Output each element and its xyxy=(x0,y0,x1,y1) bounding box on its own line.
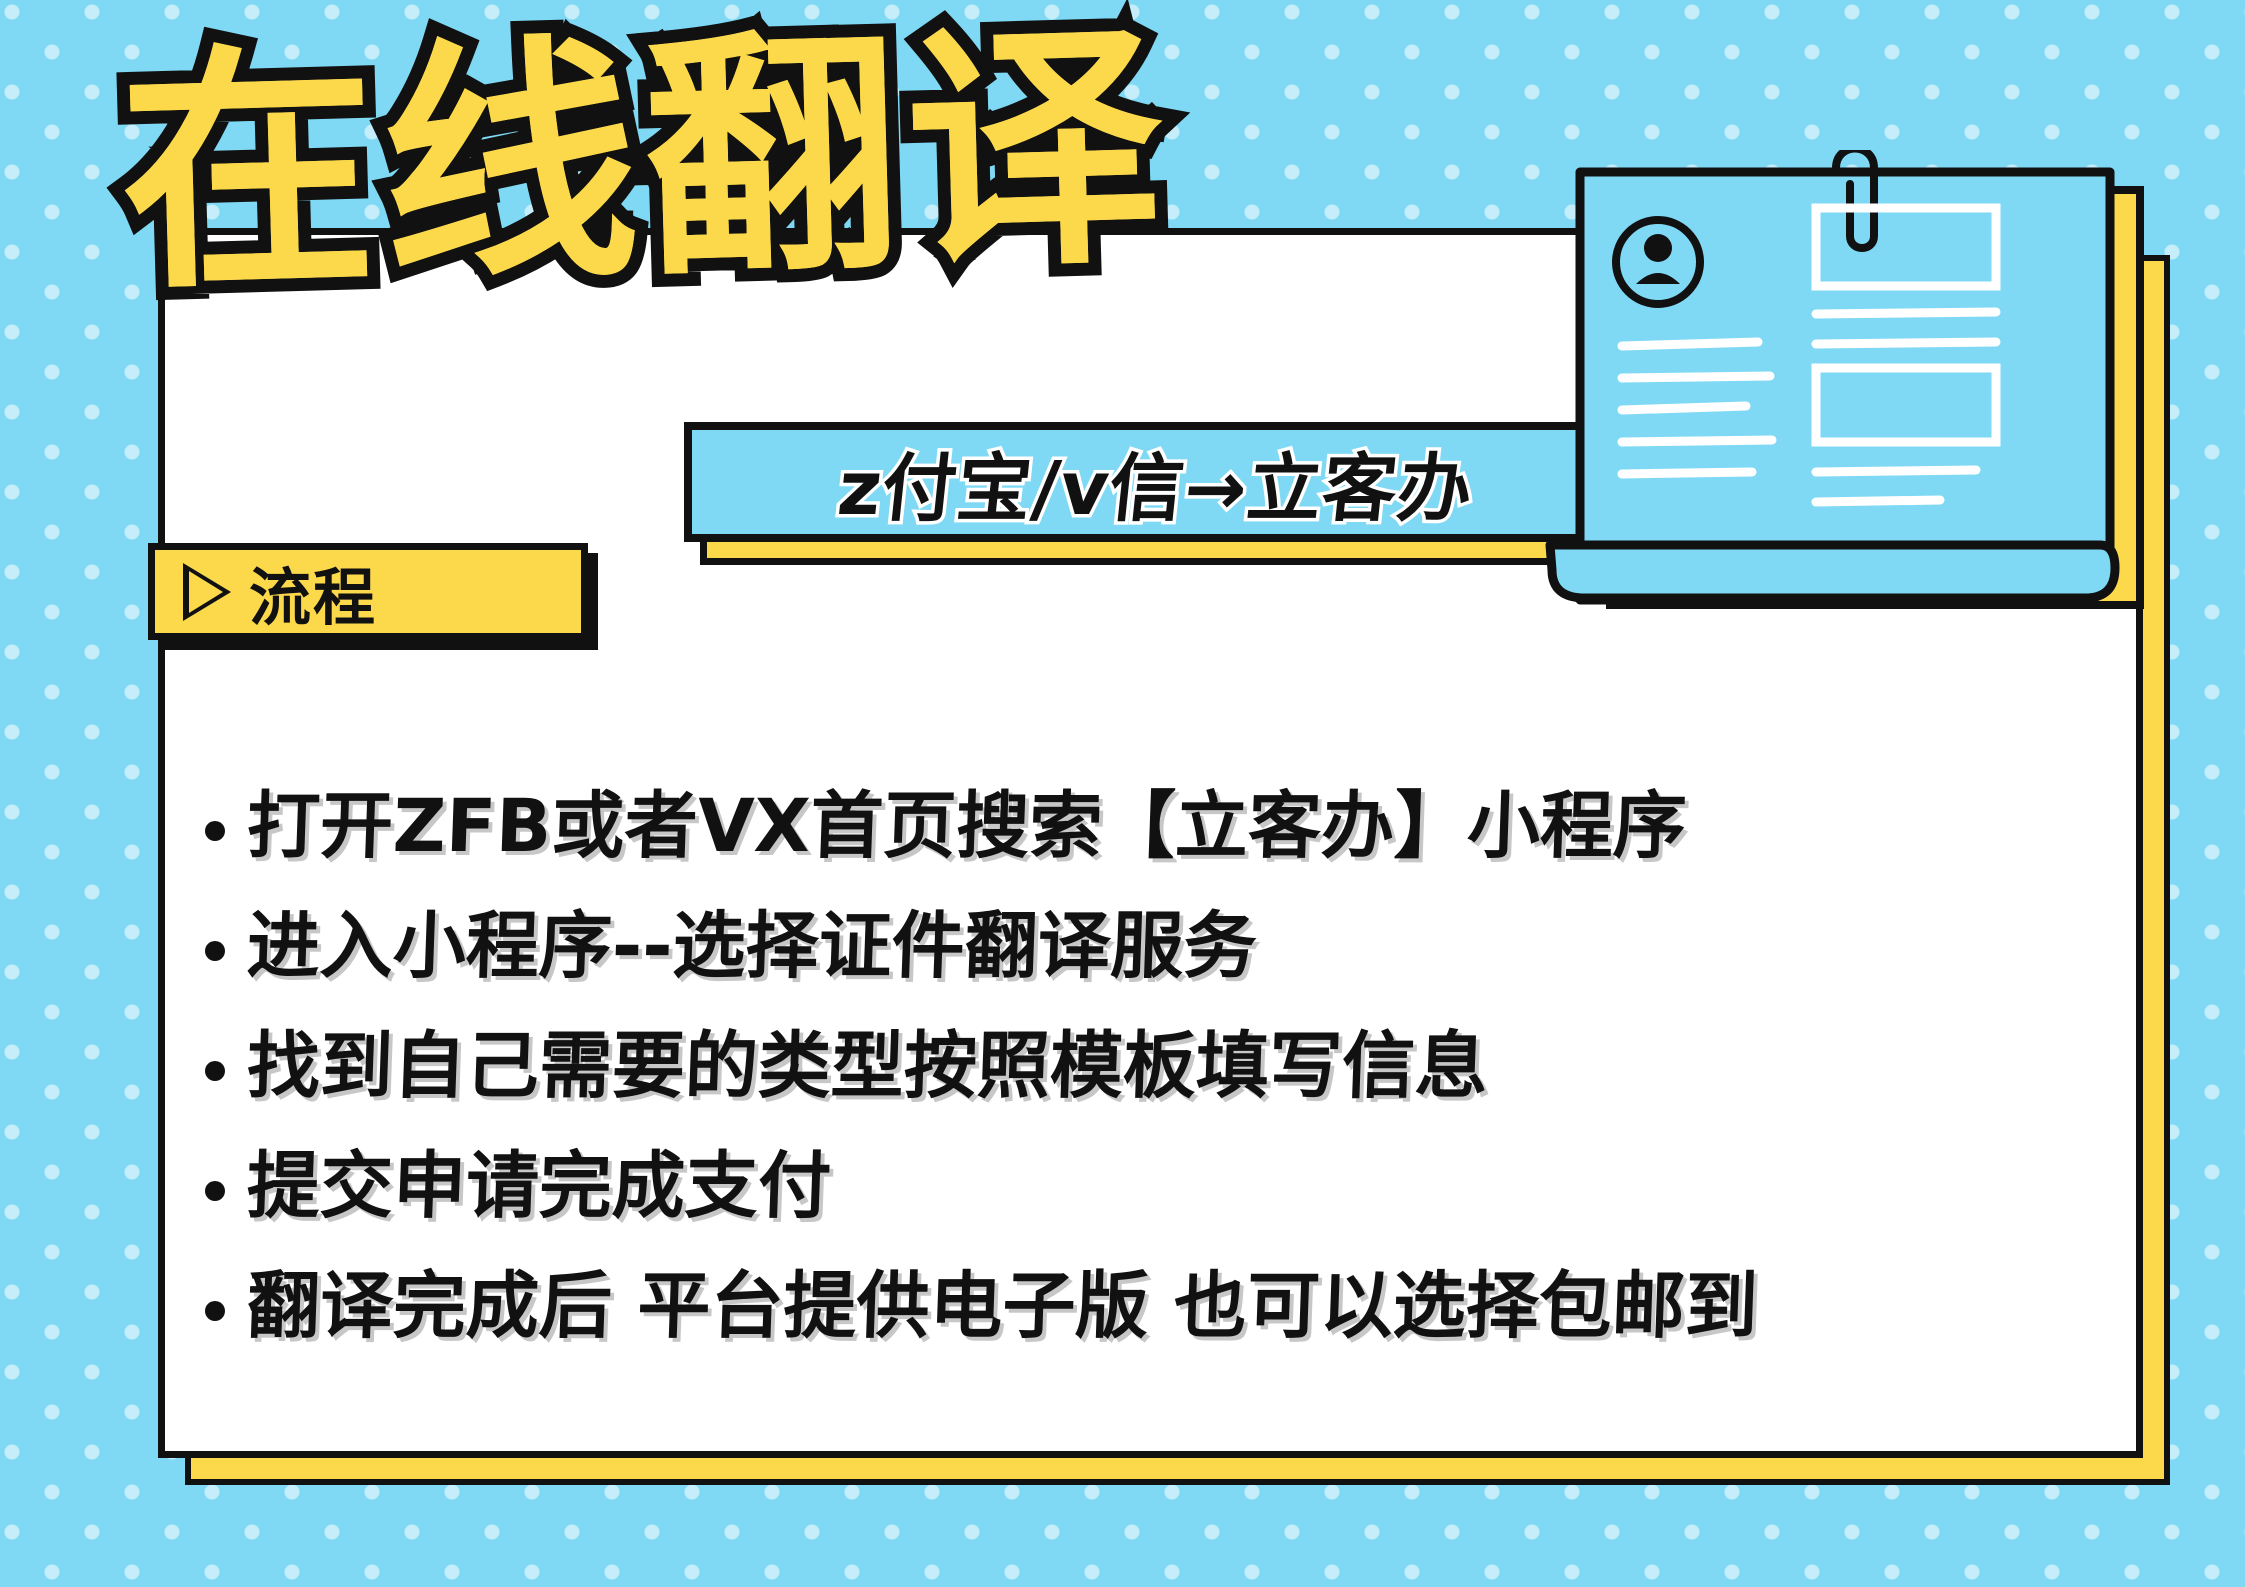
flow-tag: 流程 xyxy=(148,543,588,640)
poster-background: 在线翻译 在线翻译 z付宝/v信→立客办 流程 打开ZFB或者VX首页搜索【立客… xyxy=(0,0,2245,1587)
bullet-dot-icon xyxy=(205,821,225,841)
step-text: 翻译完成后 平台提供电子版 也可以选择包邮到 xyxy=(245,1255,1759,1359)
bullet-dot-icon xyxy=(205,1301,225,1321)
list-item: 翻译完成后 平台提供电子版 也可以选择包邮到 xyxy=(205,1255,2065,1361)
play-triangle-icon xyxy=(183,563,231,621)
list-item: 找到自己需要的类型按照模板填写信息 xyxy=(205,1015,2065,1121)
list-item: 提交申请完成支付 xyxy=(205,1135,2065,1241)
step-text: 找到自己需要的类型按照模板填写信息 xyxy=(245,1015,1490,1119)
list-item: 进入小程序--选择证件翻译服务 xyxy=(205,895,2065,1001)
list-item: 打开ZFB或者VX首页搜索【立客办】小程序 xyxy=(205,775,2065,881)
bullet-dot-icon xyxy=(205,1181,225,1201)
steps-list: 打开ZFB或者VX首页搜索【立客办】小程序 进入小程序--选择证件翻译服务 找到… xyxy=(205,775,2065,1375)
bullet-dot-icon xyxy=(205,1061,225,1081)
step-text: 进入小程序--选择证件翻译服务 xyxy=(245,895,1258,999)
step-text: 提交申请完成支付 xyxy=(245,1135,833,1239)
document-illustration xyxy=(1540,150,2160,710)
person-avatar-icon xyxy=(1616,220,1700,304)
bullet-dot-icon xyxy=(205,941,225,961)
subtitle-banner: z付宝/v信→立客办 xyxy=(684,422,1629,542)
step-text: 打开ZFB或者VX首页搜索【立客办】小程序 xyxy=(245,775,1688,879)
subtitle-banner-text: z付宝/v信→立客办 xyxy=(834,429,1480,536)
flow-tag-label: 流程 xyxy=(249,547,377,637)
